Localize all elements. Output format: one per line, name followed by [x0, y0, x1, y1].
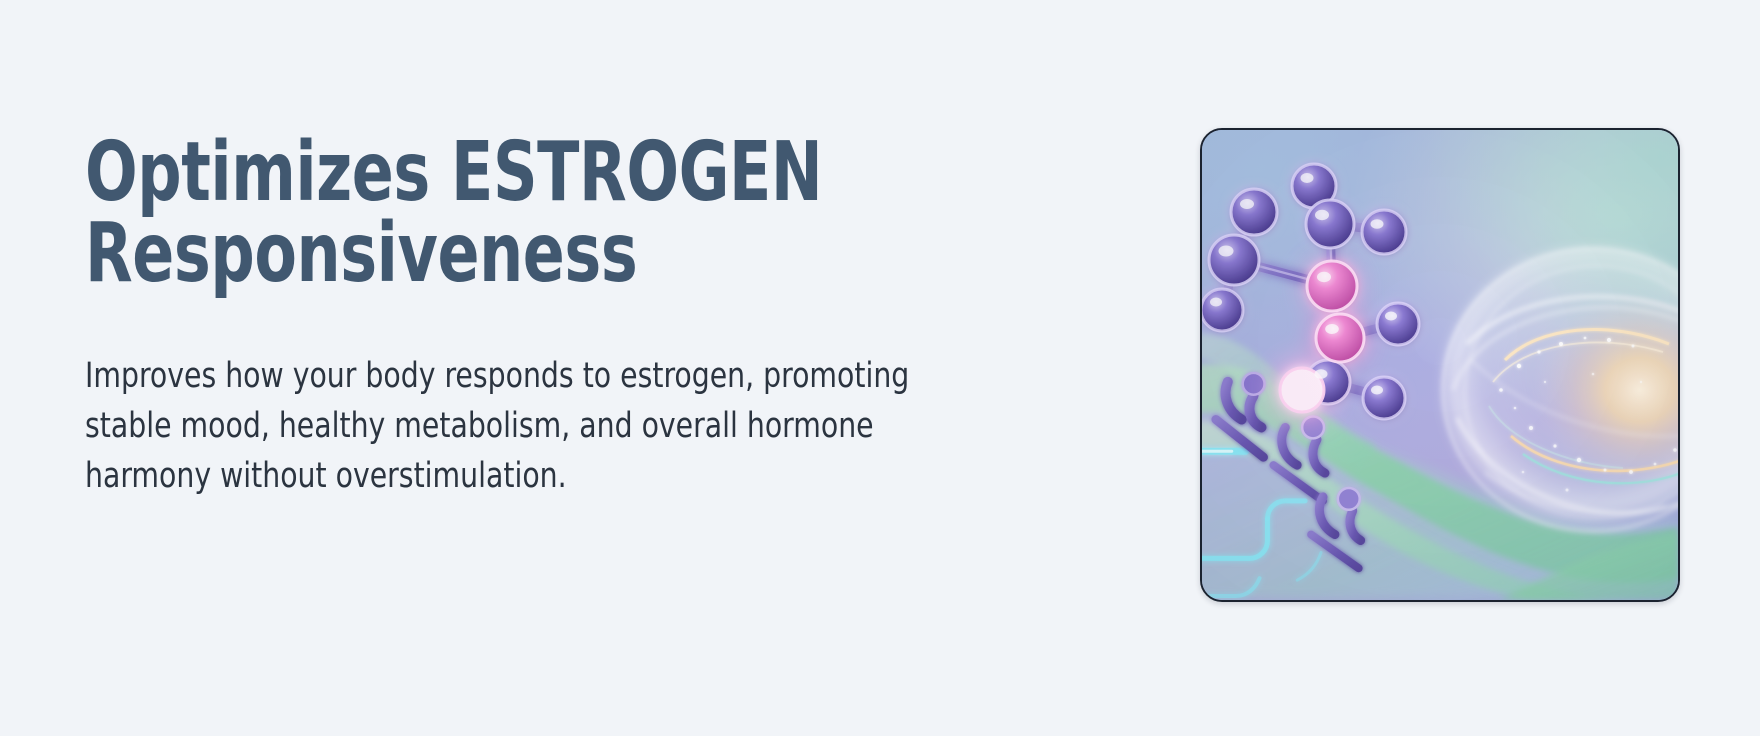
card-vignette [1202, 130, 1678, 600]
feature-text-column: Optimizes ESTROGEN Responsiveness Improv… [85, 132, 1025, 501]
feature-description: Improves how your body responds to estro… [85, 352, 931, 501]
feature-heading: Optimizes ESTROGEN Responsiveness [85, 132, 875, 294]
feature-section: Optimizes ESTROGEN Responsiveness Improv… [0, 0, 1760, 736]
feature-image-card [1200, 128, 1680, 602]
